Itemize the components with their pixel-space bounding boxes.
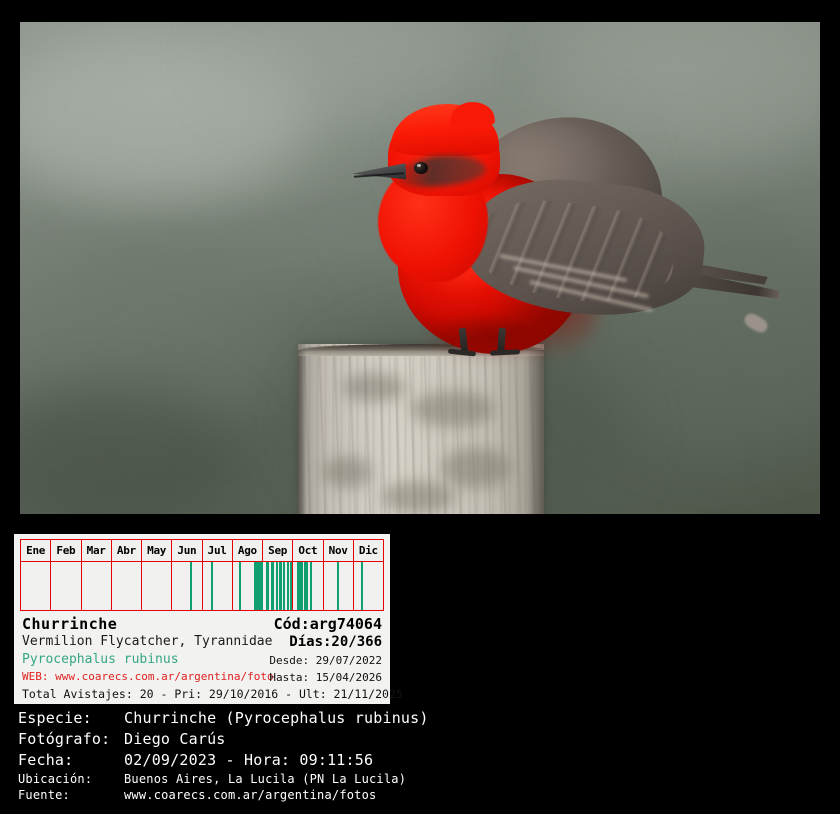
calendar-month-jun: Jun: [172, 540, 202, 561]
calendar-month-sep: Sep: [263, 540, 293, 561]
bird-tail-tip: [742, 311, 770, 335]
date-from: Desde: 29/07/2022: [269, 654, 382, 667]
sighting-tick: [239, 562, 241, 610]
calendar-month-ago: Ago: [233, 540, 263, 561]
sighting-tick: [266, 562, 269, 610]
sighting-tick: [287, 562, 289, 610]
calendar-cell-jul: [203, 562, 233, 610]
calendar-month-header: EneFebMarAbrMayJunJulAgoSepOctNovDic: [21, 540, 383, 562]
sighting-tick: [211, 562, 213, 610]
meta-row-fuente: Fuente: www.coarecs.com.ar/argentina/fot…: [18, 787, 818, 803]
meta-row-fotografo: Fotógrafo: Diego Carús: [18, 729, 818, 750]
sighting-tick: [279, 562, 282, 610]
calendar-cell-may: [142, 562, 172, 610]
sighting-tick: [276, 562, 278, 610]
sighting-tick: [271, 562, 274, 610]
photo-metadata: Especie: Churrinche (Pyrocephalus rubinu…: [18, 708, 818, 803]
meta-row-especie: Especie: Churrinche (Pyrocephalus rubinu…: [18, 708, 818, 729]
fotografo-label: Fotógrafo:: [18, 729, 124, 750]
meta-row-ubicacion: Ubicación: Buenos Aires, La Lucila (PN L…: [18, 771, 818, 787]
calendar-cell-feb: [51, 562, 81, 610]
calendar-cell-nov: [324, 562, 354, 610]
sighting-tick: [337, 562, 339, 610]
ubicacion-value: Buenos Aires, La Lucila (PN La Lucila): [124, 771, 406, 787]
species-summary-panel: EneFebMarAbrMayJunJulAgoSepOctNovDic Chu…: [14, 534, 390, 704]
calendar-cell-ene: [21, 562, 51, 610]
fuente-value[interactable]: www.coarecs.com.ar/argentina/fotos: [124, 787, 376, 803]
sighting-tick: [310, 562, 312, 610]
calendar-month-may: May: [142, 540, 172, 561]
sighting-tick: [190, 562, 192, 610]
calendar-cell-sep: [263, 562, 293, 610]
bird-eye-glint: [417, 164, 421, 167]
calendar-month-mar: Mar: [82, 540, 112, 561]
calendar-sighting-track: [21, 562, 383, 610]
photo-canvas: [20, 22, 820, 514]
calendar-cell-dic: [354, 562, 383, 610]
sighting-tick: [297, 562, 303, 610]
calendar-month-dic: Dic: [354, 540, 383, 561]
sighting-tick: [304, 562, 308, 610]
calendar-month-oct: Oct: [293, 540, 323, 561]
screenshot-root: EneFebMarAbrMayJunJulAgoSepOctNovDic Chu…: [0, 0, 840, 814]
days-count: Días:20/366: [289, 634, 382, 650]
bird-photo: [20, 22, 820, 514]
record-code: Cód:arg74064: [274, 615, 382, 633]
phenology-calendar: EneFebMarAbrMayJunJulAgoSepOctNovDic: [20, 539, 384, 611]
web-url-line[interactable]: WEB: www.coarecs.com.ar/argentina/foto: [22, 670, 274, 683]
calendar-month-jul: Jul: [203, 540, 233, 561]
species-common-name: Churrinche: [22, 615, 117, 633]
calendar-month-nov: Nov: [324, 540, 354, 561]
sighting-tick: [361, 562, 363, 610]
fecha-value: 02/09/2023 - Hora: 09:11:56: [124, 750, 373, 771]
especie-label: Especie:: [18, 708, 124, 729]
especie-value: Churrinche (Pyrocephalus rubinus): [124, 708, 429, 729]
ubicacion-label: Ubicación:: [18, 771, 124, 787]
calendar-cell-oct: [293, 562, 323, 610]
species-scientific-name: Pyrocephalus rubinus: [22, 652, 179, 667]
sighting-tick: [283, 562, 285, 610]
bird-eye: [414, 162, 428, 174]
vermilion-flycatcher: [20, 22, 820, 514]
fecha-label: Fecha:: [18, 750, 124, 771]
total-sightings-line: Total Avistajes: 20 - Pri: 29/10/2016 - …: [22, 687, 403, 701]
calendar-cell-abr: [112, 562, 142, 610]
species-info-block: Churrinche Vermilion Flycatcher, Tyranni…: [20, 615, 384, 701]
species-english-name: Vermilion Flycatcher, Tyrannidae: [22, 634, 272, 649]
calendar-cell-ago: [233, 562, 263, 610]
date-until: Hasta: 15/04/2026: [269, 671, 382, 684]
calendar-month-feb: Feb: [51, 540, 81, 561]
fuente-label: Fuente:: [18, 787, 124, 803]
calendar-cell-mar: [82, 562, 112, 610]
fotografo-value: Diego Carús: [124, 729, 226, 750]
calendar-cell-jun: [172, 562, 202, 610]
sighting-tick: [290, 562, 292, 610]
meta-row-fecha: Fecha: 02/09/2023 - Hora: 09:11:56: [18, 750, 818, 771]
calendar-month-abr: Abr: [112, 540, 142, 561]
calendar-month-ene: Ene: [21, 540, 51, 561]
